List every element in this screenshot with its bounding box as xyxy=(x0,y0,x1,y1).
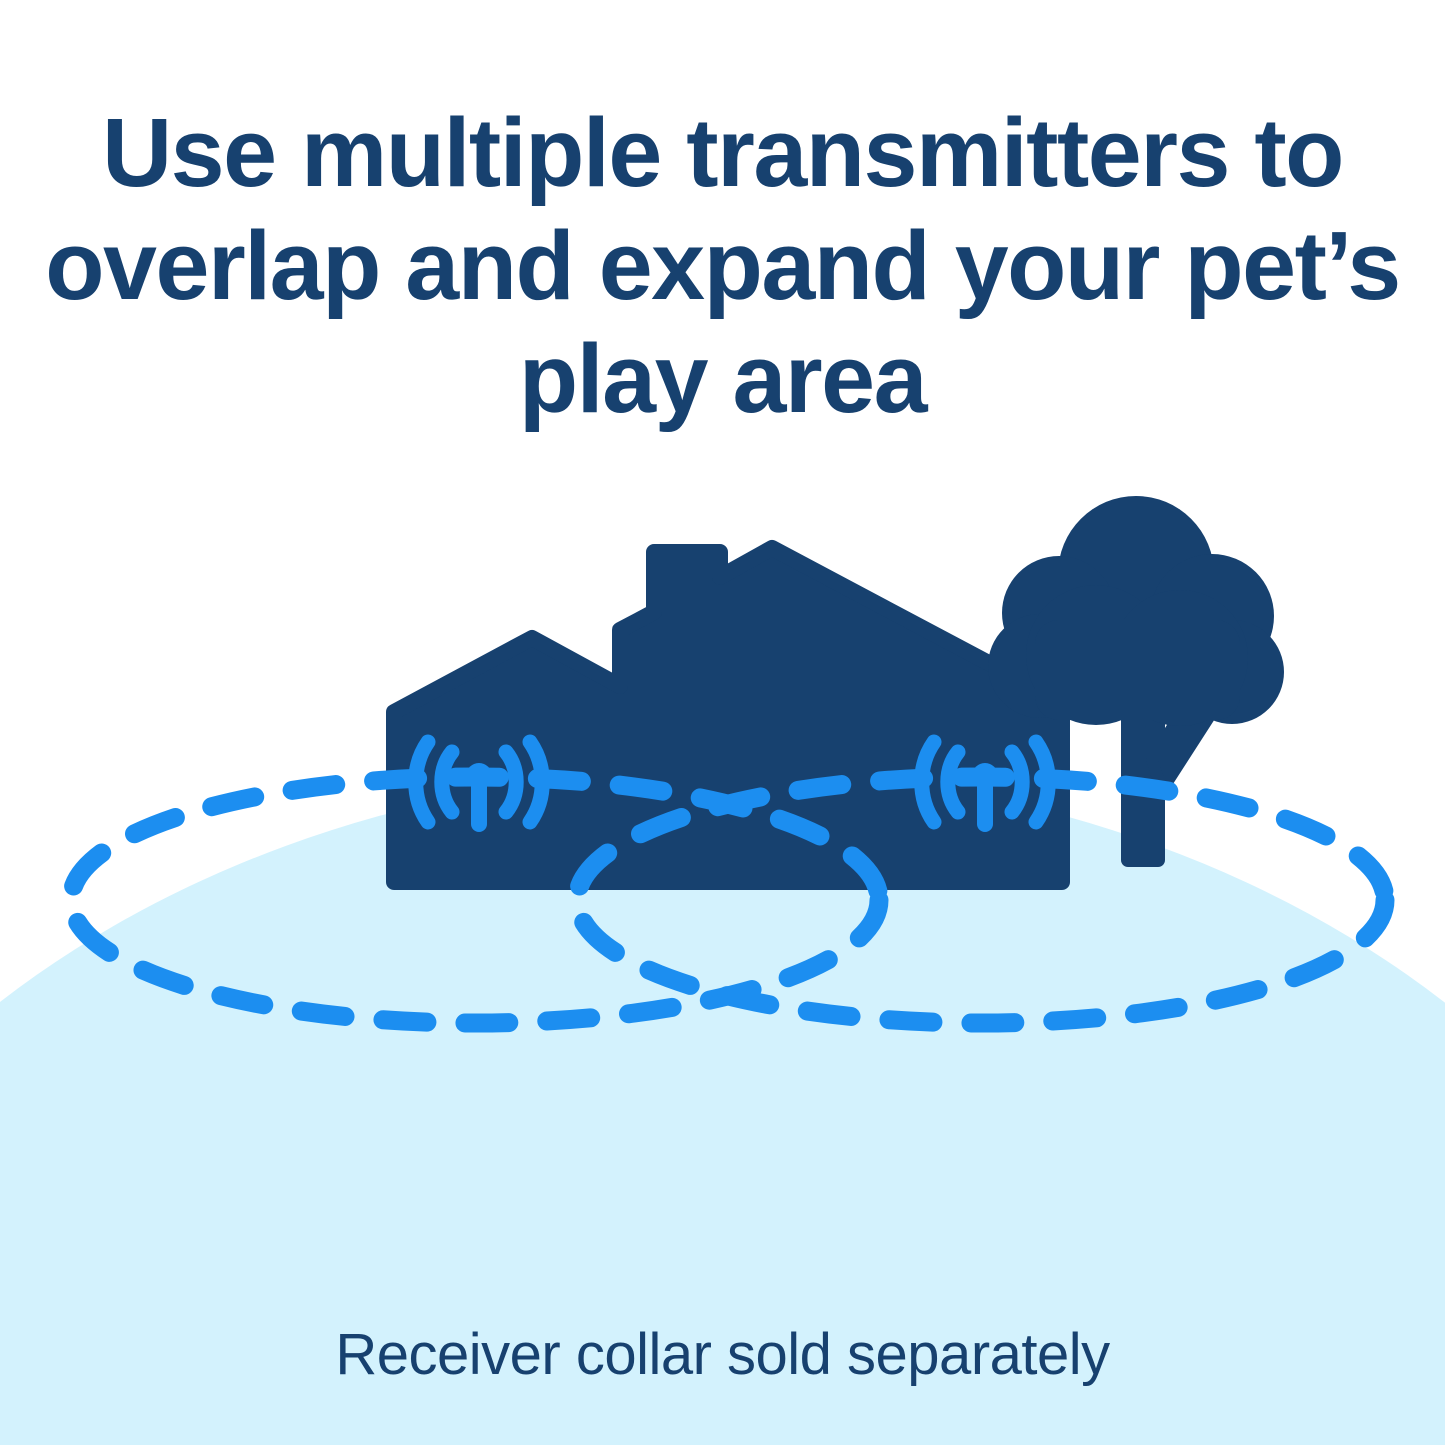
illustration-scene xyxy=(0,0,1445,1445)
house-silhouette xyxy=(394,548,1062,882)
infographic-canvas: Use multiple transmitters to overlap and… xyxy=(0,0,1445,1445)
disclaimer-caption: Receiver collar sold separately xyxy=(0,1322,1445,1388)
